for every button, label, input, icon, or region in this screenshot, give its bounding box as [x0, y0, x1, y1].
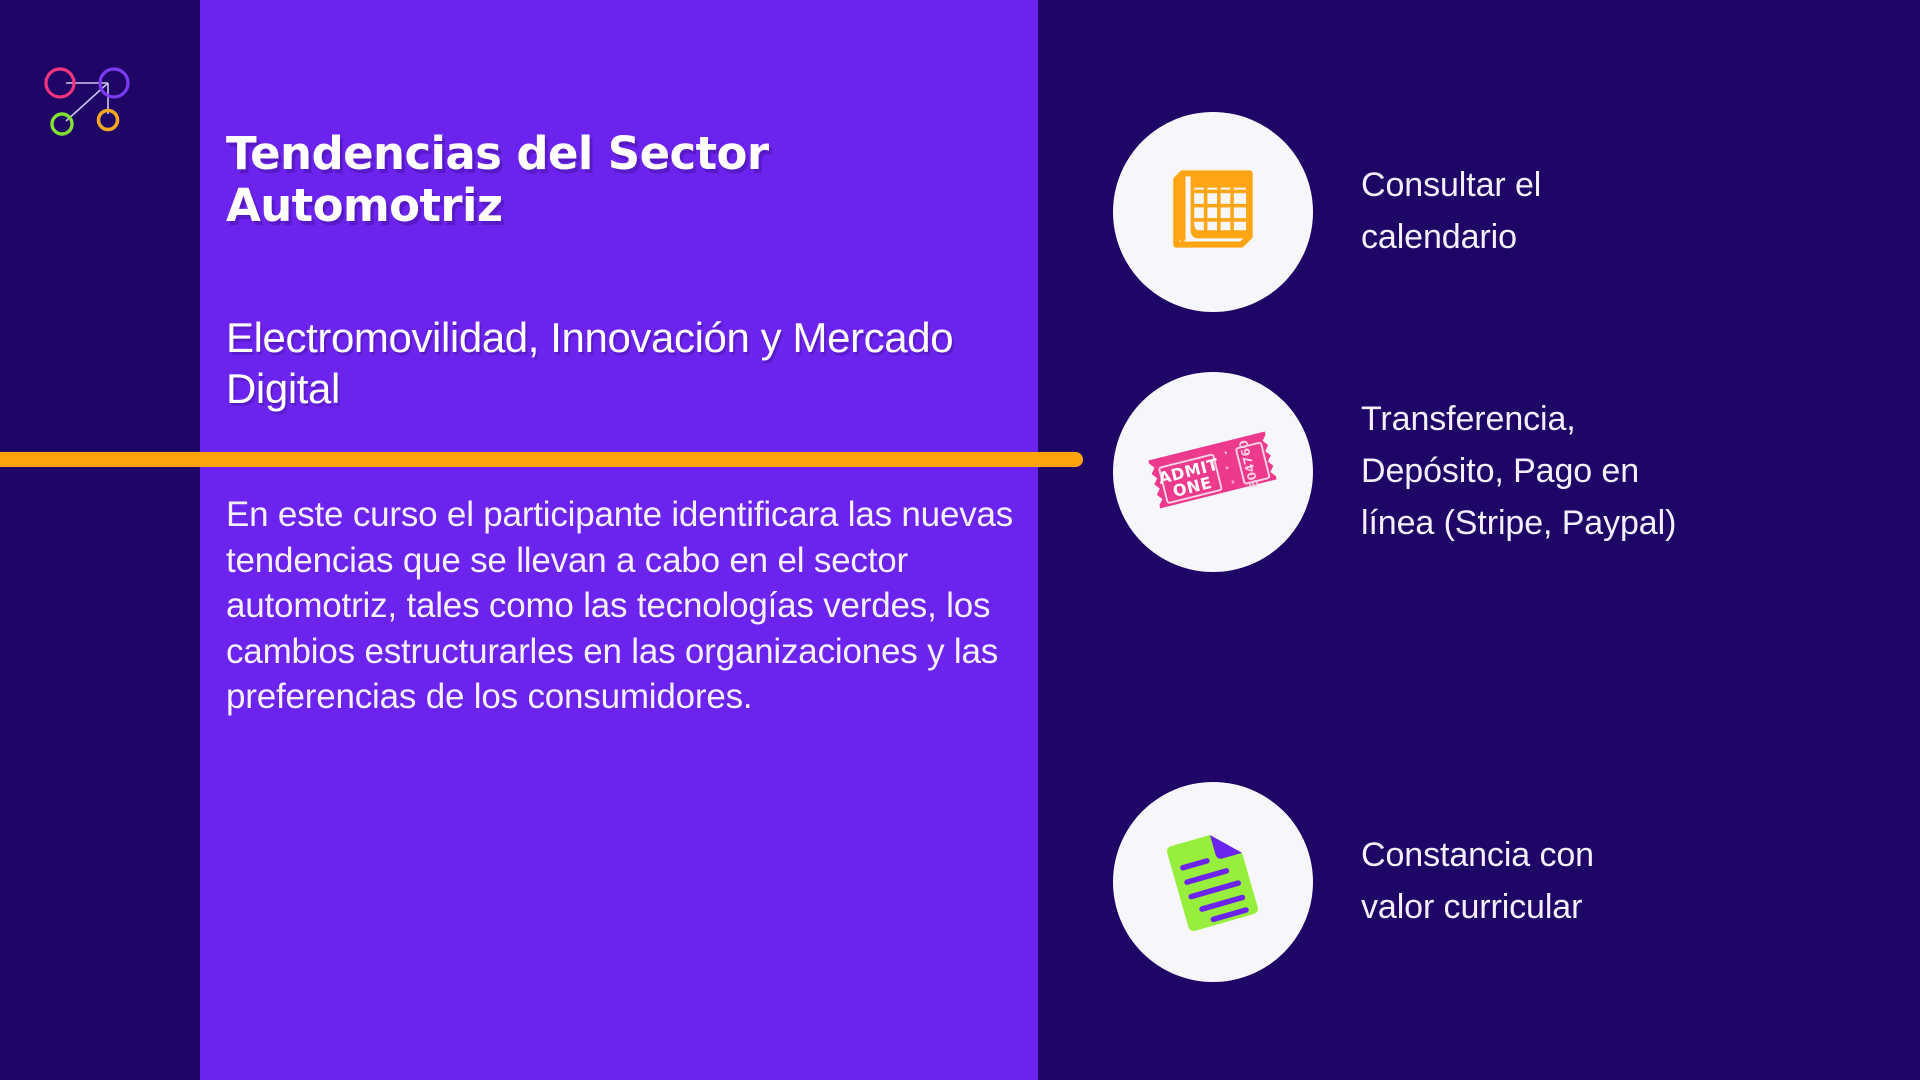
- feature-icon-badge: ADMIT ONE 604760 * * *: [1113, 372, 1313, 572]
- feature-label: Consultar el calendario: [1361, 160, 1903, 263]
- calendar-icon: [1152, 151, 1274, 273]
- ticket-icon: ADMIT ONE 604760 * * *: [1138, 397, 1288, 547]
- page-subtitle: Electromovilidad, Innovación y Mercado D…: [226, 312, 1036, 414]
- course-description: En este curso el participante identifica…: [226, 492, 1026, 720]
- feature-icon-badge: [1113, 112, 1313, 312]
- feature-list: Consultar el calendario ADMIT ONE 604760…: [1113, 0, 1903, 1080]
- feature-label: Transferencia, Depósito, Pago en línea (…: [1361, 394, 1903, 549]
- network-nodes-logo: [38, 58, 138, 148]
- feature-item-payment[interactable]: ADMIT ONE 604760 * * * Transferencia, De…: [1113, 372, 1903, 572]
- left-text-block: Tendencias del Sector Automotriz Electro…: [226, 0, 1026, 1080]
- feature-item-certificate[interactable]: Constancia con valor curricular: [1113, 782, 1903, 982]
- page-title: Tendencias del Sector Automotriz: [226, 128, 926, 232]
- feature-item-calendar[interactable]: Consultar el calendario: [1113, 112, 1903, 312]
- feature-label: Constancia con valor curricular: [1361, 830, 1903, 933]
- slide-canvas: Tendencias del Sector Automotriz Electro…: [0, 0, 1920, 1080]
- document-icon: [1143, 812, 1283, 952]
- feature-icon-badge: [1113, 782, 1313, 982]
